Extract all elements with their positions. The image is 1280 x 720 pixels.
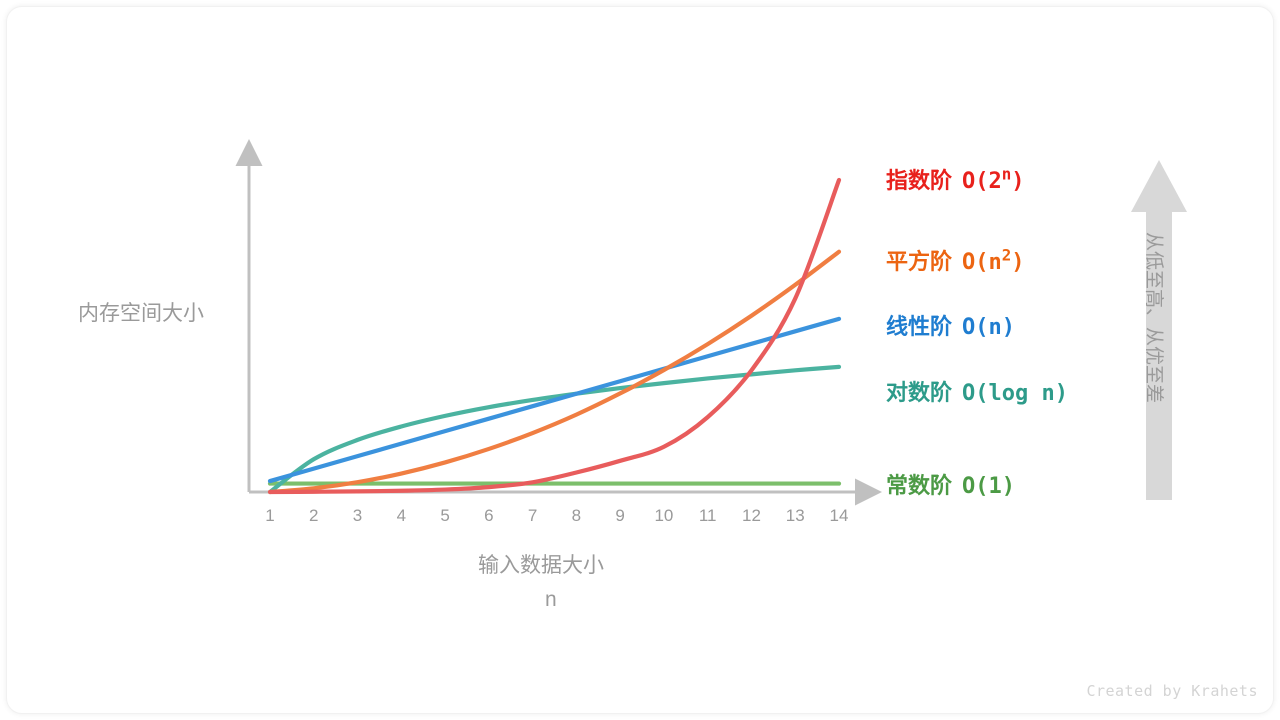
x-tick-5: 5	[430, 506, 460, 526]
x-axis-title: 输入数据大小	[478, 549, 604, 579]
legend-label: 指数阶	[886, 168, 952, 193]
legend-item-2: 线性阶O(n)	[886, 309, 1015, 341]
x-tick-4: 4	[386, 506, 416, 526]
legend-notation: O(log n)	[962, 381, 1068, 406]
credit-text: Created by Krahets	[1086, 682, 1258, 700]
legend-item-1: 平方阶O(n2)	[886, 244, 1025, 276]
legend-label: 常数阶	[886, 473, 952, 498]
legend-notation: O(1)	[962, 474, 1015, 499]
x-tick-3: 3	[343, 506, 373, 526]
x-tick-9: 9	[605, 506, 635, 526]
figure-canvas: 内存空间大小 输入数据大小 n 1234567891011121314 指数阶O…	[0, 0, 1280, 720]
complexity-plot	[0, 0, 1280, 720]
x-tick-8: 8	[561, 506, 591, 526]
curve-On	[270, 319, 839, 481]
x-tick-7: 7	[518, 506, 548, 526]
curve-O2n	[270, 180, 839, 492]
legend-notation: O(2n)	[962, 169, 1025, 194]
x-tick-11: 11	[693, 506, 723, 526]
x-tick-6: 6	[474, 506, 504, 526]
curve-Ologn	[270, 367, 839, 492]
x-tick-2: 2	[299, 506, 329, 526]
legend-label: 平方阶	[886, 249, 952, 274]
x-tick-13: 13	[780, 506, 810, 526]
axes	[249, 163, 858, 492]
data-curves	[270, 180, 839, 492]
legend-notation: O(n)	[962, 315, 1015, 340]
x-tick-10: 10	[649, 506, 679, 526]
legend-item-3: 对数阶O(log n)	[886, 375, 1068, 407]
legend-label: 线性阶	[886, 314, 952, 339]
ranking-arrow-label: 从低至高、从优至差	[1142, 232, 1169, 403]
legend-item-4: 常数阶O(1)	[886, 468, 1015, 500]
legend-notation: O(n2)	[962, 250, 1025, 275]
x-tick-14: 14	[824, 506, 854, 526]
x-tick-12: 12	[736, 506, 766, 526]
x-tick-1: 1	[255, 506, 285, 526]
legend-item-0: 指数阶O(2n)	[886, 163, 1025, 195]
x-axis-subtitle: n	[545, 588, 557, 612]
y-axis-title: 内存空间大小	[78, 297, 204, 327]
legend-label: 对数阶	[886, 380, 952, 405]
